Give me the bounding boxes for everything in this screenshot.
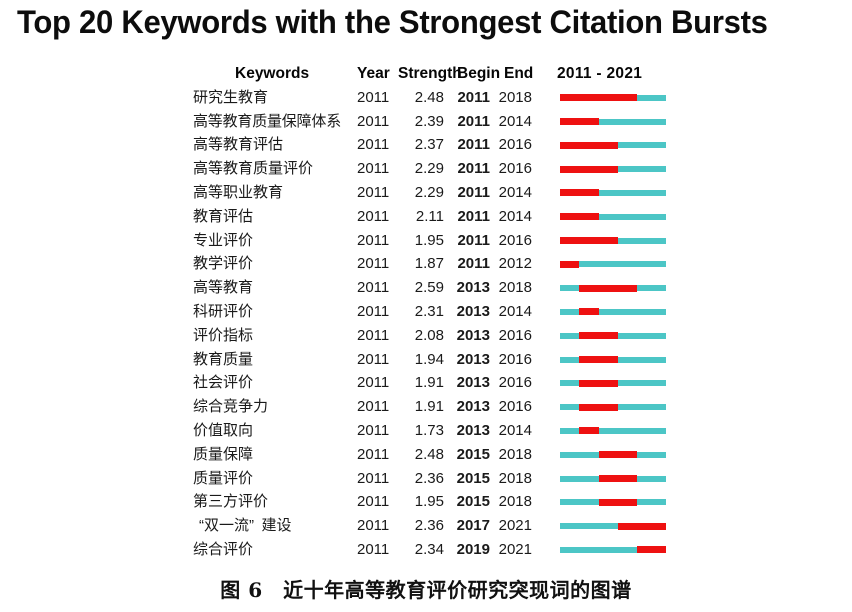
cell-year: 2011 xyxy=(357,395,397,419)
cell-end: 2021 xyxy=(494,538,532,562)
cell-strength: 1.95 xyxy=(398,490,444,514)
cell-strength: 2.48 xyxy=(398,86,444,110)
cell-year: 2011 xyxy=(357,157,397,181)
cell-keyword: 研究生教育 xyxy=(193,86,268,110)
cell-keyword: 专业评价 xyxy=(193,229,253,253)
cell-year: 2011 xyxy=(357,467,397,491)
timeline-segment-burst xyxy=(560,189,599,196)
timeline-segment-burst xyxy=(560,166,618,173)
cell-keyword: 高等教育质量保障体系 xyxy=(193,110,341,134)
cell-strength: 1.91 xyxy=(398,371,444,395)
timeline-segment-burst xyxy=(579,356,618,363)
timeline-segment-after-burst xyxy=(637,476,666,482)
cell-begin: 2011 xyxy=(450,86,490,110)
burst-timeline-bar xyxy=(560,261,666,267)
cell-strength: 2.37 xyxy=(398,133,444,157)
cell-begin: 2011 xyxy=(450,110,490,134)
table-row: 价值取向20111.7320132014 xyxy=(0,419,852,443)
timeline-segment-after-burst xyxy=(599,190,666,196)
burst-timeline-bar xyxy=(560,119,666,125)
cell-keyword: 价值取向 xyxy=(193,419,253,443)
cell-end: 2014 xyxy=(494,419,532,443)
cell-begin: 2015 xyxy=(450,443,490,467)
timeline-segment-before-burst xyxy=(560,333,579,339)
cell-year: 2011 xyxy=(357,86,397,110)
timeline-segment-burst xyxy=(599,451,638,458)
table-row: 教育质量20111.9420132016 xyxy=(0,348,852,372)
cell-end: 2016 xyxy=(494,348,532,372)
timeline-segment-before-burst xyxy=(560,499,599,505)
cell-end: 2016 xyxy=(494,324,532,348)
timeline-segment-burst xyxy=(599,475,638,482)
timeline-segment-after-burst xyxy=(599,214,666,220)
cell-year: 2011 xyxy=(357,348,397,372)
timeline-segment-after-burst xyxy=(618,404,666,410)
cell-end: 2018 xyxy=(494,443,532,467)
cell-year: 2011 xyxy=(357,110,397,134)
cell-begin: 2013 xyxy=(450,348,490,372)
cell-begin: 2011 xyxy=(450,252,490,276)
table-row: 综合竞争力20111.9120132016 xyxy=(0,395,852,419)
cell-strength: 2.36 xyxy=(398,467,444,491)
cell-keyword: 高等教育评估 xyxy=(193,133,283,157)
cell-strength: 2.31 xyxy=(398,300,444,324)
cell-begin: 2019 xyxy=(450,538,490,562)
burst-timeline-bar xyxy=(560,285,666,291)
cell-strength: 2.39 xyxy=(398,110,444,134)
cell-strength: 2.59 xyxy=(398,276,444,300)
cell-end: 2021 xyxy=(494,514,532,538)
table-row: 质量评价20112.3620152018 xyxy=(0,467,852,491)
burst-timeline-bar xyxy=(560,547,666,553)
table-row: “双一流” 建设20112.3620172021 xyxy=(0,514,852,538)
table-row: 高等教育质量评价20112.2920112016 xyxy=(0,157,852,181)
cell-keyword: 质量保障 xyxy=(193,443,253,467)
timeline-segment-before-burst xyxy=(560,357,579,363)
cell-year: 2011 xyxy=(357,252,397,276)
burst-timeline-bar xyxy=(560,309,666,315)
cell-begin: 2013 xyxy=(450,371,490,395)
cell-begin: 2015 xyxy=(450,467,490,491)
cell-strength: 2.48 xyxy=(398,443,444,467)
burst-timeline-bar xyxy=(560,452,666,458)
cell-strength: 1.94 xyxy=(398,348,444,372)
table-row: 教学评价20111.8720112012 xyxy=(0,252,852,276)
cell-strength: 1.87 xyxy=(398,252,444,276)
cell-year: 2011 xyxy=(357,490,397,514)
cell-end: 2016 xyxy=(494,157,532,181)
cell-begin: 2013 xyxy=(450,300,490,324)
cell-keyword: 综合竞争力 xyxy=(193,395,268,419)
timeline-segment-before-burst xyxy=(560,476,599,482)
timeline-segment-burst xyxy=(560,142,618,149)
cell-keyword: 教育评估 xyxy=(193,205,253,229)
timeline-segment-before-burst xyxy=(560,380,579,386)
cell-strength: 2.36 xyxy=(398,514,444,538)
cell-begin: 2017 xyxy=(450,514,490,538)
timeline-segment-after-burst xyxy=(599,428,666,434)
cell-strength: 2.08 xyxy=(398,324,444,348)
cell-strength: 2.29 xyxy=(398,157,444,181)
timeline-segment-burst xyxy=(618,523,666,530)
timeline-segment-after-burst xyxy=(618,238,666,244)
timeline-segment-burst xyxy=(579,332,618,339)
timeline-segment-burst xyxy=(560,213,599,220)
cell-end: 2018 xyxy=(494,467,532,491)
cell-end: 2016 xyxy=(494,395,532,419)
table-row: 研究生教育20112.4820112018 xyxy=(0,86,852,110)
cell-keyword: 高等教育 xyxy=(193,276,253,300)
cell-end: 2012 xyxy=(494,252,532,276)
citation-burst-table: Keywords Year Strength Begin End 2011 - … xyxy=(0,62,852,562)
timeline-segment-after-burst xyxy=(579,261,666,267)
timeline-segment-burst xyxy=(560,261,579,268)
burst-timeline-bar xyxy=(560,357,666,363)
timeline-segment-after-burst xyxy=(637,285,666,291)
cell-begin: 2013 xyxy=(450,419,490,443)
timeline-segment-burst xyxy=(560,118,599,125)
timeline-segment-before-burst xyxy=(560,285,579,291)
timeline-segment-after-burst xyxy=(618,333,666,339)
burst-timeline-bar xyxy=(560,404,666,410)
burst-timeline-bar xyxy=(560,95,666,101)
cell-keyword: 高等职业教育 xyxy=(193,181,283,205)
cell-keyword: 第三方评价 xyxy=(193,490,268,514)
cell-end: 2016 xyxy=(494,371,532,395)
timeline-segment-burst xyxy=(579,285,637,292)
cell-keyword: 高等教育质量评价 xyxy=(193,157,313,181)
timeline-segment-after-burst xyxy=(618,142,666,148)
cell-begin: 2011 xyxy=(450,205,490,229)
table-row: 高等教育评估20112.3720112016 xyxy=(0,133,852,157)
column-header-year: Year xyxy=(357,62,397,86)
timeline-segment-before-burst xyxy=(560,547,637,553)
cell-end: 2016 xyxy=(494,229,532,253)
cell-year: 2011 xyxy=(357,133,397,157)
table-row: 高等教育质量保障体系20112.3920112014 xyxy=(0,110,852,134)
cell-begin: 2015 xyxy=(450,490,490,514)
cell-begin: 2013 xyxy=(450,276,490,300)
page-title: Top 20 Keywords with the Strongest Citat… xyxy=(17,4,768,41)
figure-caption: 图 6 近十年高等教育评价研究突现词的图谱 xyxy=(0,574,852,603)
cell-end: 2018 xyxy=(494,86,532,110)
column-header-end: End xyxy=(504,62,534,86)
burst-timeline-bar xyxy=(560,214,666,220)
cell-keyword: 质量评价 xyxy=(193,467,253,491)
cell-year: 2011 xyxy=(357,443,397,467)
cell-begin: 2013 xyxy=(450,324,490,348)
column-header-timeline: 2011 - 2021 xyxy=(557,62,677,86)
burst-timeline-bar xyxy=(560,428,666,434)
cell-year: 2011 xyxy=(357,419,397,443)
cell-strength: 2.29 xyxy=(398,181,444,205)
cell-end: 2016 xyxy=(494,133,532,157)
timeline-segment-burst xyxy=(560,237,618,244)
burst-timeline-bar xyxy=(560,476,666,482)
cell-end: 2014 xyxy=(494,110,532,134)
burst-timeline-bar xyxy=(560,142,666,148)
timeline-segment-burst xyxy=(579,427,598,434)
cell-year: 2011 xyxy=(357,324,397,348)
timeline-segment-after-burst xyxy=(599,309,666,315)
timeline-segment-burst xyxy=(579,308,598,315)
table-row: 社会评价20111.9120132016 xyxy=(0,371,852,395)
cell-year: 2011 xyxy=(357,300,397,324)
timeline-segment-after-burst xyxy=(637,95,666,101)
cell-year: 2011 xyxy=(357,181,397,205)
table-row: 教育评估20112.1120112014 xyxy=(0,205,852,229)
timeline-segment-after-burst xyxy=(618,357,666,363)
table-header-row: Keywords Year Strength Begin End 2011 - … xyxy=(0,62,852,86)
table-row: 评价指标20112.0820132016 xyxy=(0,324,852,348)
cell-keyword: 教育质量 xyxy=(193,348,253,372)
burst-timeline-bar xyxy=(560,380,666,386)
cell-begin: 2011 xyxy=(450,181,490,205)
cell-end: 2014 xyxy=(494,181,532,205)
cell-begin: 2011 xyxy=(450,157,490,181)
burst-timeline-bar xyxy=(560,166,666,172)
cell-begin: 2011 xyxy=(450,133,490,157)
table-row: 综合评价20112.3420192021 xyxy=(0,538,852,562)
timeline-segment-burst xyxy=(637,546,666,553)
timeline-segment-burst xyxy=(579,380,618,387)
table-row: 科研评价20112.3120132014 xyxy=(0,300,852,324)
timeline-segment-burst xyxy=(560,94,637,101)
burst-timeline-bar xyxy=(560,523,666,529)
cell-year: 2011 xyxy=(357,276,397,300)
timeline-segment-after-burst xyxy=(599,119,666,125)
timeline-segment-burst xyxy=(579,404,618,411)
table-row: 第三方评价20111.9520152018 xyxy=(0,490,852,514)
cell-begin: 2013 xyxy=(450,395,490,419)
cell-keyword: 综合评价 xyxy=(193,538,253,562)
cell-strength: 1.95 xyxy=(398,229,444,253)
cell-year: 2011 xyxy=(357,371,397,395)
timeline-segment-burst xyxy=(599,499,638,506)
cell-keyword: 评价指标 xyxy=(193,324,253,348)
timeline-segment-before-burst xyxy=(560,452,599,458)
cell-end: 2018 xyxy=(494,276,532,300)
cell-strength: 2.11 xyxy=(398,205,444,229)
cell-keyword: 科研评价 xyxy=(193,300,253,324)
cell-end: 2014 xyxy=(494,300,532,324)
table-row: 专业评价20111.9520112016 xyxy=(0,229,852,253)
cell-strength: 1.91 xyxy=(398,395,444,419)
table-row: 质量保障20112.4820152018 xyxy=(0,443,852,467)
cell-keyword: 教学评价 xyxy=(193,252,253,276)
timeline-segment-before-burst xyxy=(560,428,579,434)
table-row: 高等职业教育20112.2920112014 xyxy=(0,181,852,205)
cell-end: 2018 xyxy=(494,490,532,514)
cell-keyword: 社会评价 xyxy=(193,371,253,395)
cell-keyword: “双一流” 建设 xyxy=(199,514,292,538)
timeline-segment-after-burst xyxy=(637,452,666,458)
cell-end: 2014 xyxy=(494,205,532,229)
cell-strength: 2.34 xyxy=(398,538,444,562)
column-header-strength: Strength xyxy=(398,62,446,86)
column-header-keywords: Keywords xyxy=(235,62,309,86)
timeline-segment-before-burst xyxy=(560,523,618,529)
table-row: 高等教育20112.5920132018 xyxy=(0,276,852,300)
burst-timeline-bar xyxy=(560,499,666,505)
cell-year: 2011 xyxy=(357,514,397,538)
timeline-segment-before-burst xyxy=(560,309,579,315)
cell-begin: 2011 xyxy=(450,229,490,253)
cell-year: 2011 xyxy=(357,205,397,229)
burst-timeline-bar xyxy=(560,190,666,196)
timeline-segment-before-burst xyxy=(560,404,579,410)
timeline-segment-after-burst xyxy=(618,166,666,172)
burst-timeline-bar xyxy=(560,333,666,339)
burst-timeline-bar xyxy=(560,238,666,244)
column-header-begin: Begin xyxy=(457,62,499,86)
timeline-segment-after-burst xyxy=(637,499,666,505)
cell-year: 2011 xyxy=(357,229,397,253)
timeline-segment-after-burst xyxy=(618,380,666,386)
table-body: 研究生教育20112.4820112018高等教育质量保障体系20112.392… xyxy=(0,86,852,562)
cell-year: 2011 xyxy=(357,538,397,562)
cell-strength: 1.73 xyxy=(398,419,444,443)
